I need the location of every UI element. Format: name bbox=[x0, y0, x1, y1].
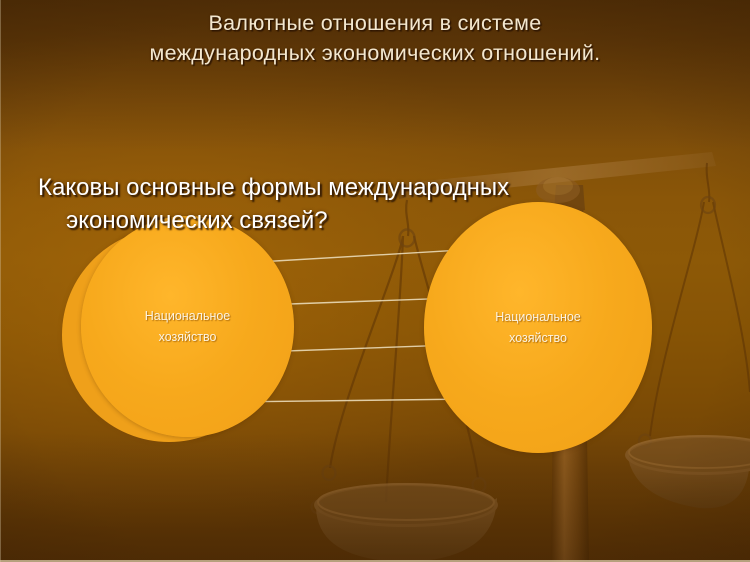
node-left-label: Национальное хозяйство bbox=[81, 306, 294, 348]
presentation-slide: Национальное хозяйство Национальное хозя… bbox=[0, 0, 750, 562]
slide-subtitle: Каковы основные формы международных экон… bbox=[38, 138, 638, 270]
subtitle-line-1: Каковы основные формы международных bbox=[38, 174, 509, 201]
slide-left-edge bbox=[0, 0, 1, 562]
subtitle-line-2: экономических связей? bbox=[38, 204, 638, 237]
slide-title: Валютные отношения в системе международн… bbox=[60, 8, 690, 68]
node-right-label: Национальное хозяйство bbox=[424, 307, 652, 349]
